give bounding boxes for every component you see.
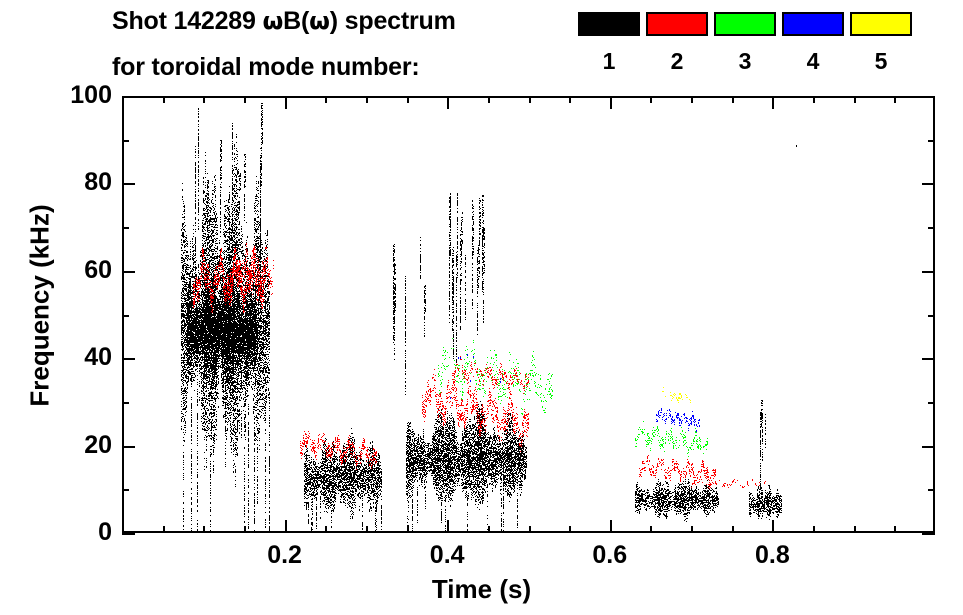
x-major-tick [285,520,287,533]
legend-label-n1: 1 [578,50,640,73]
y-major-tick [122,358,135,360]
legend-swatch-n2 [646,12,708,36]
x-minor-tick-top [732,96,734,103]
plot-area [122,96,935,533]
y-major-tick-right [922,446,935,448]
x-minor-tick-top [813,96,815,103]
y-minor-tick-right [928,489,935,491]
x-minor-tick [244,526,246,533]
legend-label-n4: 4 [782,50,844,73]
y-tick-label-20: 20 [0,433,112,458]
page-title: Shot 142289 ωB(ω) spectrum [112,7,456,36]
y-axis-label: Frequency (kHz) [25,96,56,516]
x-minor-tick [203,526,205,533]
y-minor-tick [122,140,129,142]
x-minor-tick-top [569,96,571,103]
x-major-tick-top [772,96,774,109]
x-minor-tick-top [488,96,490,103]
legend-entry-n1[interactable]: 1 [578,12,640,73]
x-minor-tick [813,526,815,533]
y-minor-tick [122,227,129,229]
x-minor-tick [407,526,409,533]
x-minor-tick-top [691,96,693,103]
legend-swatch-n5 [850,12,912,36]
title-mid: B( [283,7,309,35]
spectrogram-figure: Shot 142289 ωB(ω) spectrum for toroidal … [0,0,963,615]
x-minor-tick-top [529,96,531,103]
x-minor-tick [894,526,896,533]
y-minor-tick [122,315,129,317]
x-minor-tick-top [244,96,246,103]
y-tick-label-0: 0 [0,520,112,545]
x-minor-tick [325,526,327,533]
x-minor-tick-top [163,96,165,103]
x-major-tick-top [447,96,449,109]
y-tick-label-80: 80 [0,170,112,195]
y-major-tick-right [922,358,935,360]
legend-label-n5: 5 [850,50,912,73]
x-minor-tick-top [854,96,856,103]
omega-symbol-2: ω [309,7,330,35]
y-minor-tick-right [928,140,935,142]
spectrogram-data-layer [124,98,933,531]
y-major-tick [122,183,135,185]
y-major-tick-right [922,183,935,185]
x-tick-label-0.8: 0.8 [727,543,817,568]
x-minor-tick-top [894,96,896,103]
y-major-tick [122,446,135,448]
legend-entry-n3[interactable]: 3 [714,12,776,73]
x-minor-tick-top [650,96,652,103]
x-minor-tick [650,526,652,533]
y-tick-label-60: 60 [0,258,112,283]
x-minor-tick [691,526,693,533]
y-minor-tick-right [928,227,935,229]
x-minor-tick-top [366,96,368,103]
title-prefix: Shot 142289 [112,7,262,35]
x-minor-tick-top [325,96,327,103]
x-major-tick-top [285,96,287,109]
legend-entry-n5[interactable]: 5 [850,12,912,73]
title-suffix: ) spectrum [330,7,456,35]
x-minor-tick [529,526,531,533]
legend-label-n3: 3 [714,50,776,73]
omega-symbol-1: ω [262,7,283,35]
legend-swatch-n1 [578,12,640,36]
x-tick-label-0.2: 0.2 [240,543,330,568]
y-minor-tick [122,402,129,404]
x-major-tick [610,520,612,533]
x-minor-tick-top [203,96,205,103]
x-minor-tick [163,526,165,533]
legend-entry-n2[interactable]: 2 [646,12,708,73]
x-minor-tick [854,526,856,533]
legend: 12345 [578,12,918,90]
x-major-tick [772,520,774,533]
x-minor-tick [488,526,490,533]
y-major-tick [122,271,135,273]
y-major-tick-right [922,271,935,273]
y-tick-label-40: 40 [0,345,112,370]
y-minor-tick-right [928,402,935,404]
x-minor-tick [732,526,734,533]
x-tick-label-0.4: 0.4 [402,543,492,568]
y-major-tick-right [922,96,935,98]
x-minor-tick-top [407,96,409,103]
subtitle: for toroidal mode number: [112,53,420,82]
x-minor-tick [366,526,368,533]
y-major-tick-right [922,533,935,535]
legend-label-n2: 2 [646,50,708,73]
y-minor-tick-right [928,315,935,317]
y-tick-label-100: 100 [0,83,112,108]
legend-swatch-n4 [782,12,844,36]
y-major-tick [122,96,135,98]
x-tick-label-0.6: 0.6 [565,543,655,568]
y-minor-tick [122,489,129,491]
x-major-tick [447,520,449,533]
x-axis-label: Time (s) [0,574,963,605]
x-minor-tick [569,526,571,533]
x-major-tick-top [610,96,612,109]
legend-entry-n4[interactable]: 4 [782,12,844,73]
y-major-tick [122,533,135,535]
legend-swatch-n3 [714,12,776,36]
